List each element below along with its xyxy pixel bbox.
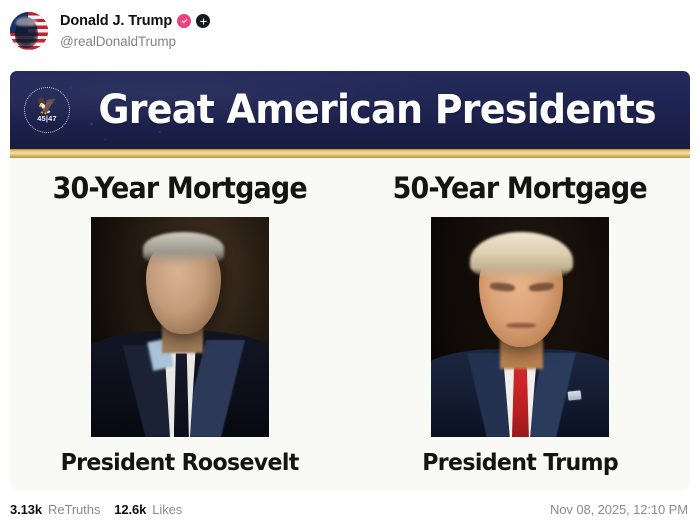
meme-banner: 🦅 45|47 Great American Presidents: [10, 71, 690, 149]
portrait-roosevelt: [91, 217, 269, 437]
author-display-name[interactable]: Donald J. Trump: [60, 12, 172, 31]
author-handle[interactable]: @realDonaldTrump: [60, 32, 210, 51]
author-name-row: Donald J. Trump: [60, 12, 210, 31]
column-title-30-year-mortgage: 30-Year Mortgage: [53, 171, 307, 205]
eagle-seal-icon: 🦅 45|47: [24, 87, 70, 133]
author-name-block: Donald J. Trump @realDonaldTrump: [60, 12, 210, 51]
column-caption-president-trump: President Trump: [422, 448, 618, 476]
meme-body: 30-Year Mortgage President Roosevelt 50-…: [10, 158, 690, 490]
american-flag-pin-icon: [567, 390, 581, 400]
trump-mouth: [506, 323, 536, 329]
roosevelt-tie: [174, 353, 189, 437]
meme-banner-title: Great American Presidents: [86, 87, 675, 133]
post-footer: 3.13k ReTruths 12.6k Likes Nov 08, 2025,…: [0, 496, 700, 522]
trump-hair: [470, 232, 573, 278]
avatar-face-hair: [16, 17, 37, 27]
verified-badge[interactable]: [177, 14, 191, 28]
likes-label[interactable]: Likes: [152, 502, 182, 517]
eagle-glyph: 🦅: [36, 97, 57, 114]
meme-column-right: 50-Year Mortgage President Trump: [350, 158, 690, 490]
meme-column-left: 30-Year Mortgage President Roosevelt: [10, 158, 350, 490]
retruths-count[interactable]: 3.13k: [10, 502, 42, 517]
retruths-label[interactable]: ReTruths: [48, 502, 100, 517]
trump-tie: [512, 367, 529, 437]
gold-accent-strip: [10, 149, 690, 158]
column-caption-president-roosevelt: President Roosevelt: [61, 448, 299, 476]
engagement-stats: 3.13k ReTruths 12.6k Likes: [10, 502, 190, 517]
portrait-trump: [431, 217, 609, 437]
seal-number-label: 45|47: [37, 115, 57, 122]
roosevelt-hair: [143, 232, 225, 265]
post-media-image[interactable]: 🦅 45|47 Great American Presidents 30-Yea…: [10, 71, 690, 490]
likes-count[interactable]: 12.6k: [114, 502, 146, 517]
post-header: Donald J. Trump @realDonaldTrump: [0, 0, 700, 52]
avatar[interactable]: [10, 12, 48, 50]
plus-badge[interactable]: [196, 14, 210, 28]
post-timestamp: Nov 08, 2025, 12:10 PM: [550, 502, 688, 517]
column-title-50-year-mortgage: 50-Year Mortgage: [393, 171, 647, 205]
